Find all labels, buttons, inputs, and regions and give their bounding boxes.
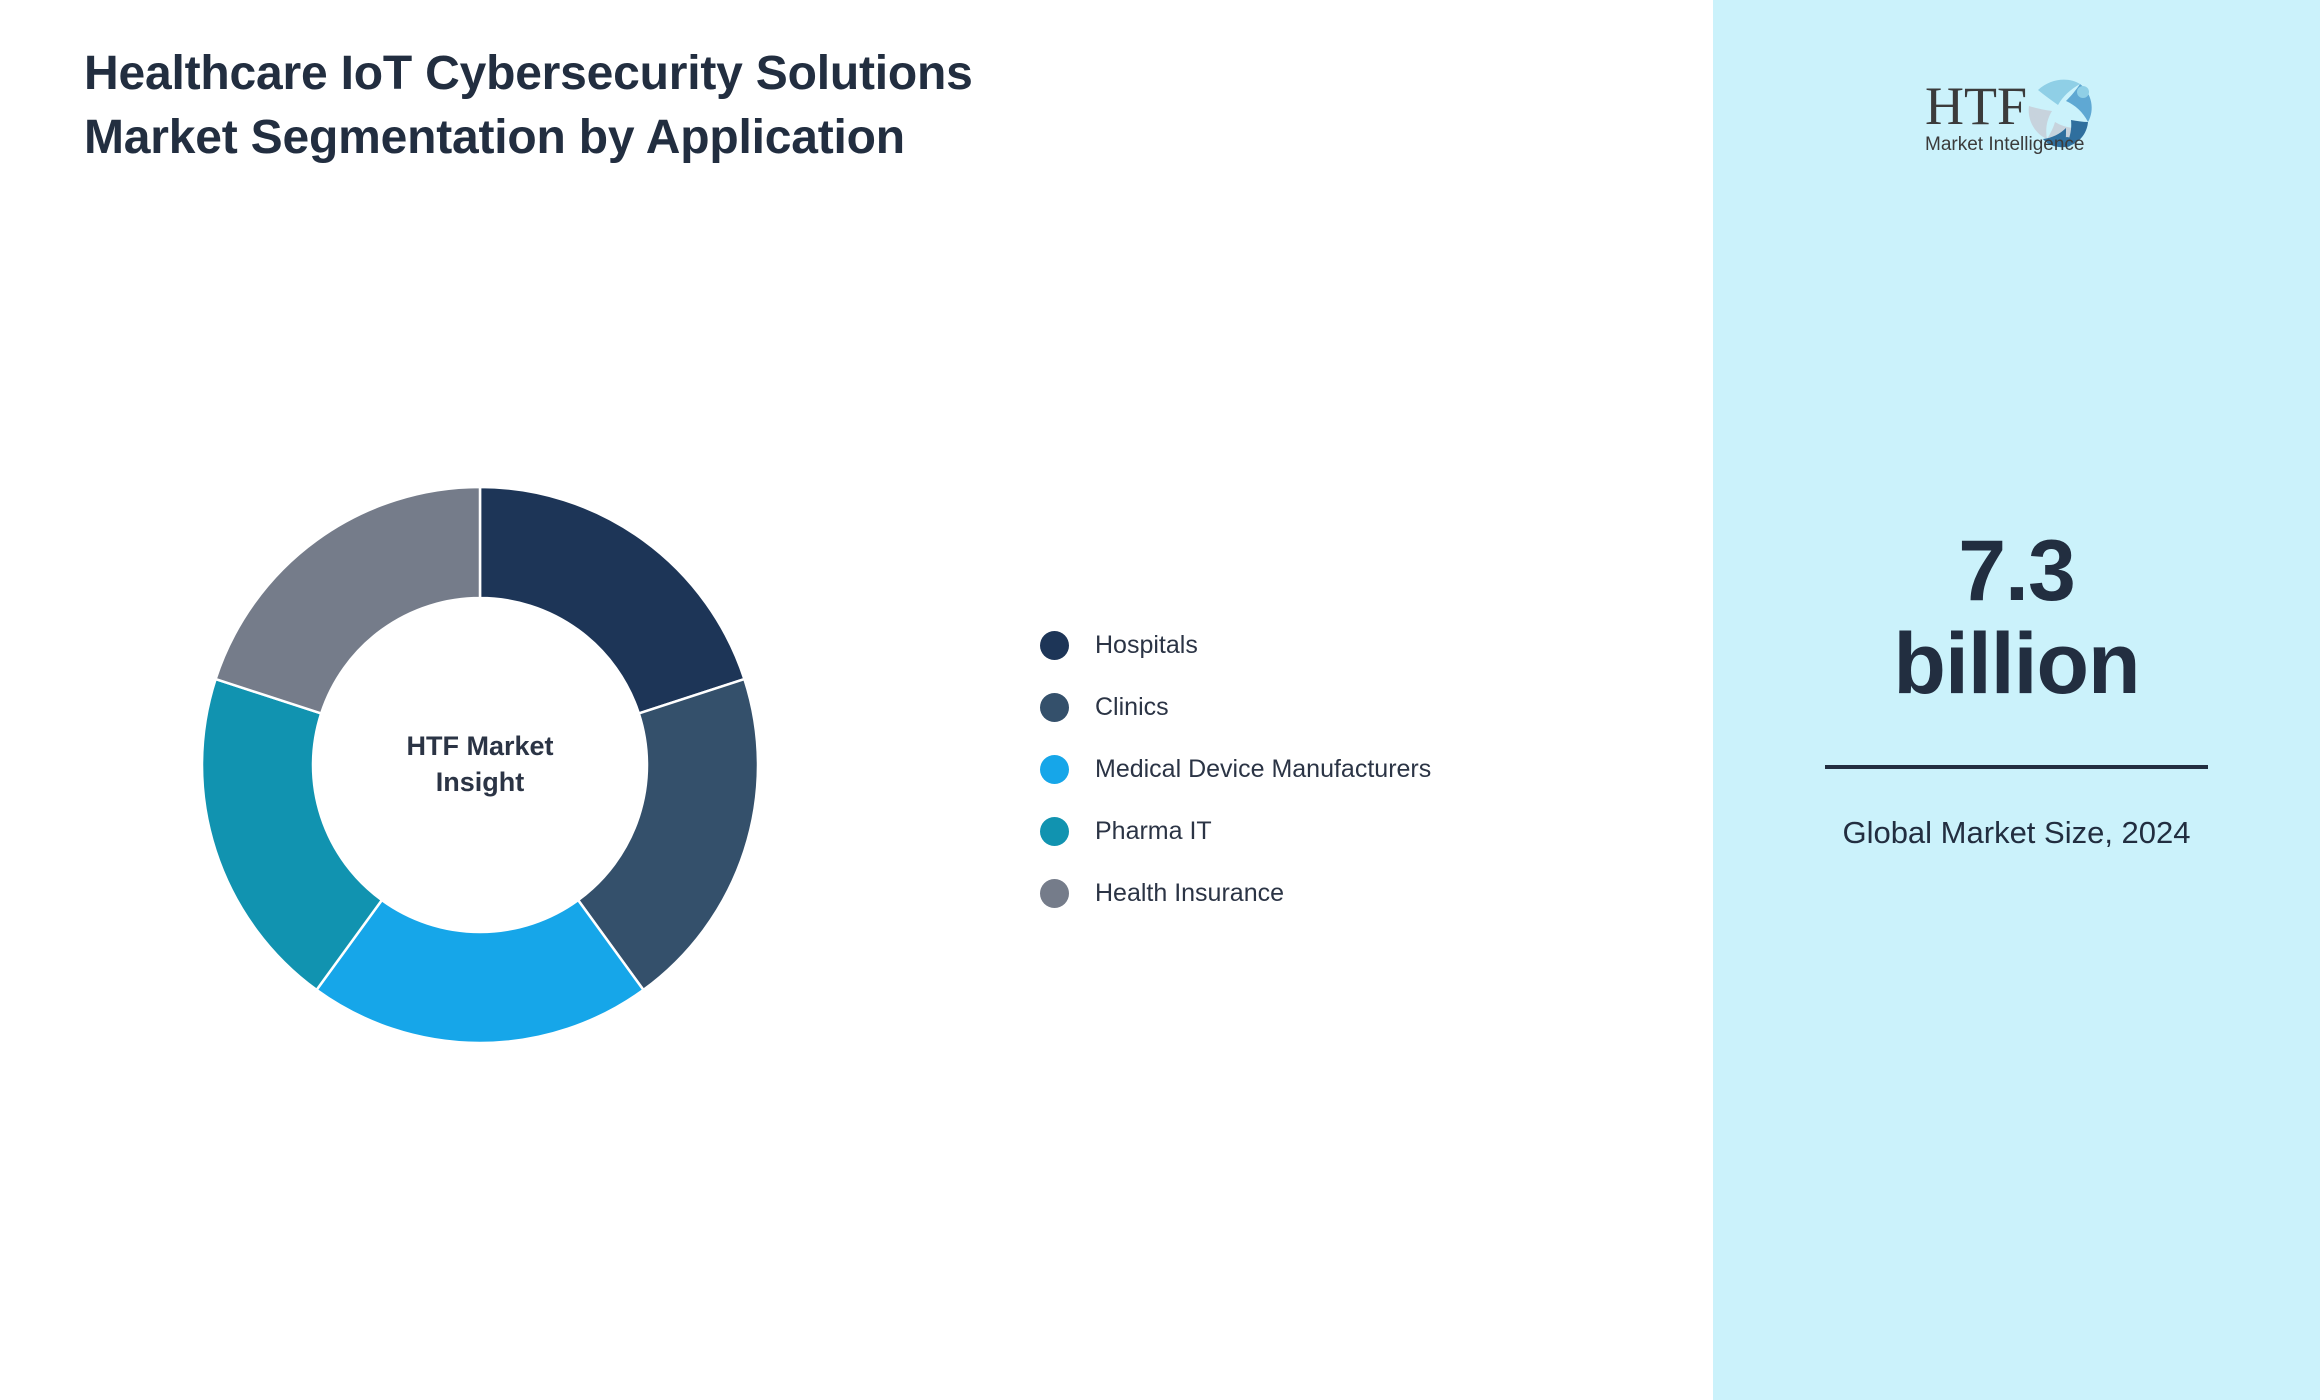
stat-value-line-1: 7.3	[1713, 525, 2320, 618]
legend-swatch-icon	[1040, 817, 1069, 846]
legend-swatch-icon	[1040, 693, 1069, 722]
infographic-root: Healthcare IoT Cybersecurity Solutions M…	[0, 0, 2320, 1400]
legend-item-label: Clinics	[1095, 693, 1169, 722]
stat-caption: Global Market Size, 2024	[1713, 811, 2320, 856]
legend-item[interactable]: Hospitals	[1040, 614, 1600, 676]
donut-chart: HTF Market Insight	[202, 487, 758, 1043]
legend-swatch-icon	[1040, 755, 1069, 784]
donut-slice[interactable]	[216, 487, 480, 713]
legend-item-label: Pharma IT	[1095, 817, 1212, 846]
legend-swatch-icon	[1040, 631, 1069, 660]
stat-divider	[1825, 765, 2208, 769]
logo-wordmark: HTF	[1925, 76, 2027, 136]
legend-item-label: Hospitals	[1095, 631, 1198, 660]
chart-area: HTF Market Insight HospitalsClinicsMedic…	[0, 0, 1713, 1400]
htf-logo: HTF Market Intelligence	[1917, 62, 2117, 162]
legend-item[interactable]: Pharma IT	[1040, 800, 1600, 862]
legend-item[interactable]: Clinics	[1040, 676, 1600, 738]
legend-swatch-icon	[1040, 879, 1069, 908]
logo-tagline: Market Intelligence	[1925, 134, 2084, 155]
stat-block: 7.3 billion Global Market Size, 2024	[1713, 525, 2320, 856]
stat-value-line-2: billion	[1713, 618, 2320, 711]
htf-logo-svg: HTF Market Intelligence	[1917, 62, 2117, 162]
left-content-panel: Healthcare IoT Cybersecurity Solutions M…	[0, 0, 1713, 1400]
legend-item[interactable]: Medical Device Manufacturers	[1040, 738, 1600, 800]
sidebar-panel: HTF Market Intelligence 7.3 billion Glob…	[1713, 0, 2320, 1400]
donut-slice[interactable]	[480, 487, 744, 713]
legend-item-label: Health Insurance	[1095, 879, 1284, 908]
donut-chart-svg	[202, 487, 758, 1043]
legend-item[interactable]: Health Insurance	[1040, 862, 1600, 924]
chart-legend: HospitalsClinicsMedical Device Manufactu…	[1040, 614, 1600, 924]
donut-slice-group	[202, 487, 758, 1043]
legend-item-label: Medical Device Manufacturers	[1095, 755, 1431, 784]
